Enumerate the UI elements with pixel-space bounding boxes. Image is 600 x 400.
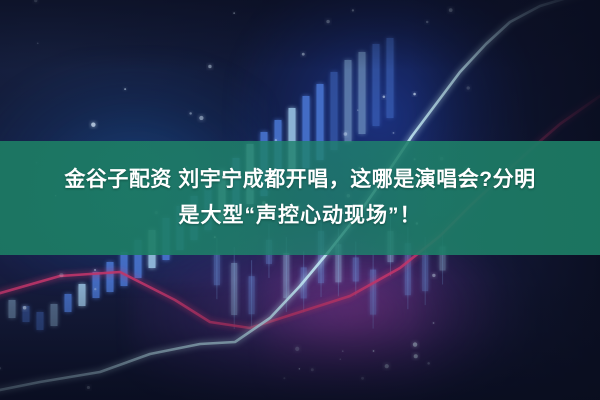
headline-line-2: 是大型“声控心动现场”！ [179, 198, 422, 234]
headline-line-1: 金谷子配资 刘宇宁成都开唱，这哪是演唱会?分明 [64, 162, 535, 198]
promo-banner-image: 金谷子配资 刘宇宁成都开唱，这哪是演唱会?分明 是大型“声控心动现场”！ [0, 0, 600, 400]
bottom-shade-overlay [0, 280, 600, 400]
headline-banner: 金谷子配资 刘宇宁成都开唱，这哪是演唱会?分明 是大型“声控心动现场”！ [0, 141, 600, 255]
